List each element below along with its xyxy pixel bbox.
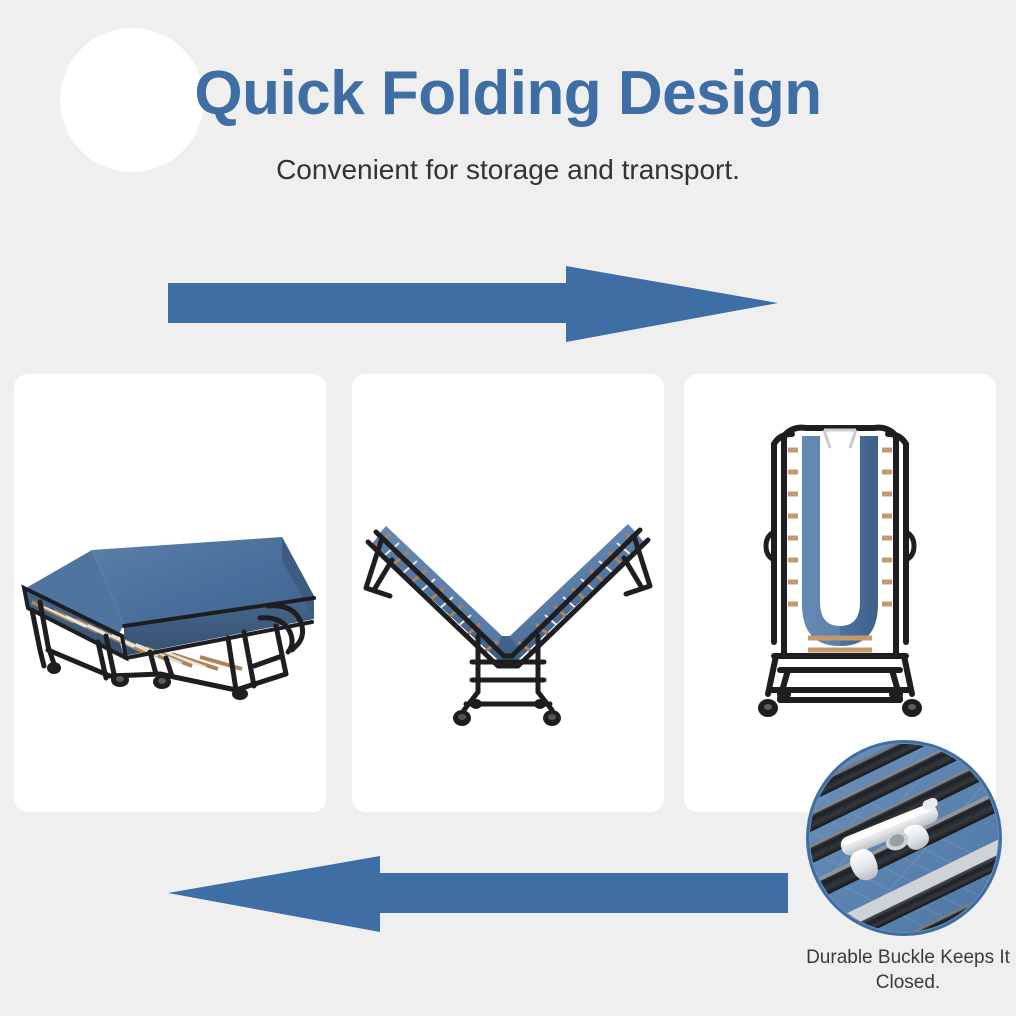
page-subtitle: Convenient for storage and transport. [0, 154, 1016, 186]
buckle-closeup-illustration [809, 743, 999, 933]
infographic-canvas: Quick Folding Design Convenient for stor… [0, 0, 1016, 1016]
buckle-caption: Durable Buckle Keeps It Closed. [806, 946, 1010, 995]
buckle-callout[interactable]: Durable Buckle Keeps It Closed. [806, 740, 1010, 995]
bed-half-folded-illustration [352, 374, 664, 812]
arrow-right-top-icon [168, 262, 778, 348]
panel-bed-open[interactable] [14, 374, 326, 812]
panel-bed-half-folded[interactable] [352, 374, 664, 812]
page-title: Quick Folding Design [0, 60, 1016, 128]
arrow-left-bottom-icon [168, 852, 788, 938]
bed-open-illustration [14, 374, 326, 812]
buckle-detail-circle [806, 740, 1002, 936]
